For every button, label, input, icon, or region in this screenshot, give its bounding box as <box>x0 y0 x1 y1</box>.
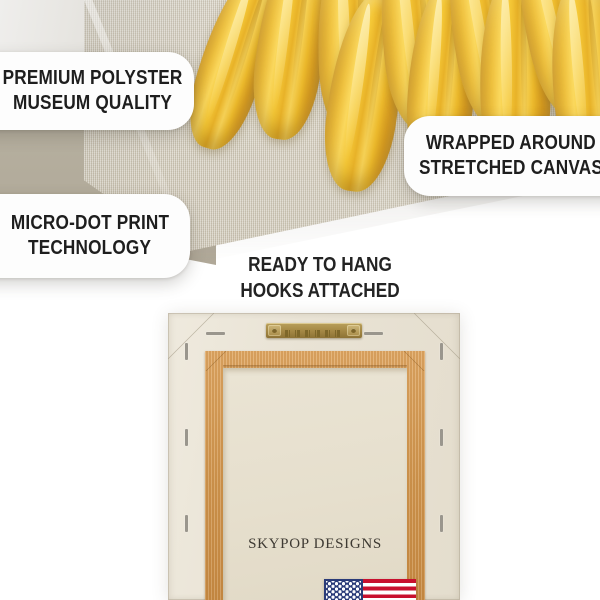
canvas-back-surface: SKYPOP DESIGNS <box>223 368 407 600</box>
sawtooth-hanger-icon <box>266 323 362 338</box>
staple-icon <box>440 343 443 360</box>
flag-canton <box>324 579 363 600</box>
flag-stars <box>326 581 361 600</box>
feature-line-1: MICRO-DOT PRINT <box>11 211 169 236</box>
feature-pill-premium: PREMIUM POLYSTER MUSEUM QUALITY <box>0 52 194 130</box>
feature-line-2: STRETCHED CANVAS <box>419 156 600 181</box>
staple-icon <box>364 332 383 335</box>
feature-line-2: TECHNOLOGY <box>28 236 151 261</box>
wooden-stretcher-frame: SKYPOP DESIGNS <box>205 351 425 600</box>
brand-name: SKYPOP DESIGNS <box>223 536 407 553</box>
staple-icon <box>440 429 443 446</box>
staple-icon <box>185 515 188 532</box>
feature-line-2: MUSEUM QUALITY <box>13 91 172 116</box>
canvas-back-photo: SKYPOP DESIGNS <box>168 313 460 600</box>
usa-flag-icon <box>324 579 416 600</box>
feature-line-1: READY TO HANG <box>219 252 422 278</box>
feature-line-2: HOOKS ATTACHED <box>219 278 422 304</box>
feature-line-1: WRAPPED AROUND <box>426 131 596 156</box>
product-feature-graphic: PREMIUM POLYSTER MUSEUM QUALITY WRAPPED … <box>0 0 600 600</box>
feature-pill-microdot: MICRO-DOT PRINT TECHNOLOGY <box>0 194 190 278</box>
hanger-screw-plate-right <box>347 325 360 336</box>
hanger-teeth <box>285 330 343 337</box>
staple-icon <box>206 332 225 335</box>
feature-caption-ready-to-hang: READY TO HANG HOOKS ATTACHED <box>202 252 438 304</box>
staple-icon <box>185 429 188 446</box>
hanger-screw-plate-left <box>268 325 281 336</box>
staple-icon <box>185 343 188 360</box>
feature-line-1: PREMIUM POLYSTER <box>3 66 183 91</box>
feature-pill-wrapped: WRAPPED AROUND STRETCHED CANVAS <box>404 116 600 196</box>
staple-icon <box>440 515 443 532</box>
